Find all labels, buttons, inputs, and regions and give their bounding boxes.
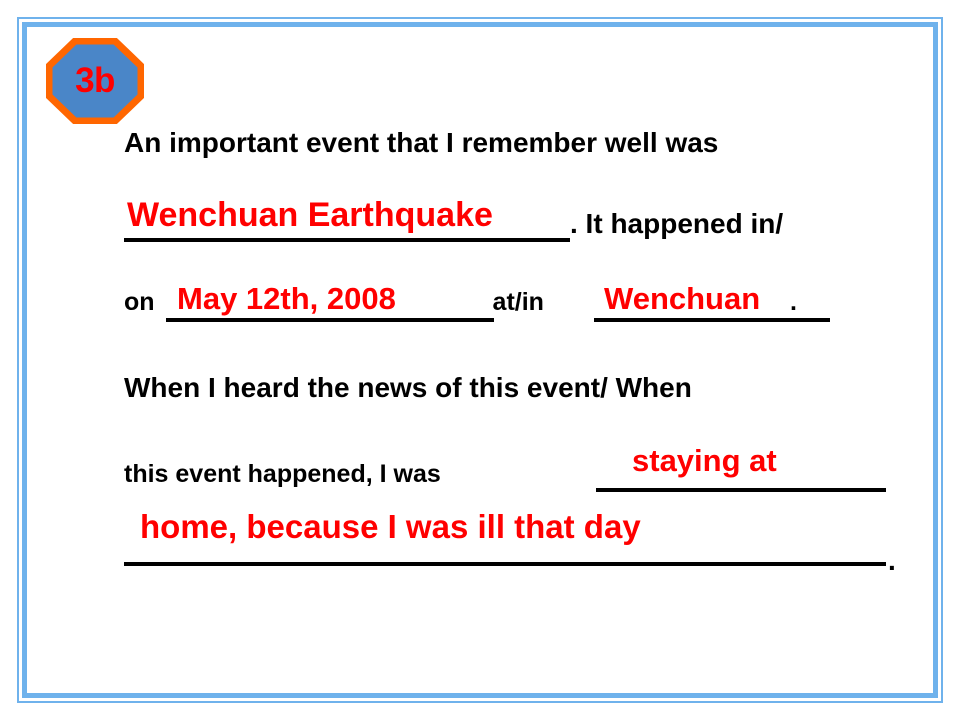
prompt-line-4-text: When I heard the news of this event/ Whe…: [124, 372, 692, 403]
answer-reason[interactable]: home, because I was ill that day: [140, 508, 641, 546]
answer-doing[interactable]: staying at: [632, 443, 777, 479]
answer-date[interactable]: May 12th, 2008: [177, 281, 396, 317]
blank-rule-reason[interactable]: [124, 562, 886, 566]
prompt-line-4: When I heard the news of this event/ Whe…: [124, 372, 692, 404]
prompt-line-1-text: An important event that I remember well …: [124, 127, 718, 158]
prompt-line-5-text: this event happened, I was: [124, 460, 441, 488]
slide-content: 3b An important event that I remember we…: [0, 0, 960, 720]
blank-rule-doing[interactable]: [596, 488, 886, 492]
exercise-number-label: 3b: [46, 38, 144, 124]
prompt-line-3-period: .: [790, 288, 797, 316]
slide: 3b An important event that I remember we…: [0, 0, 960, 720]
prompt-line-3-on: on: [124, 288, 155, 316]
blank-rule-event[interactable]: [124, 238, 570, 242]
prompt-line-6-period: .: [888, 545, 896, 577]
prompt-line-5: this event happened, I was: [124, 460, 441, 489]
exercise-number-badge: 3b: [46, 38, 144, 124]
prompt-line-3-atin: at/in: [493, 288, 544, 316]
blank-rule-date[interactable]: [166, 318, 494, 322]
answer-place[interactable]: Wenchuan: [604, 281, 760, 317]
answer-event[interactable]: Wenchuan Earthquake: [127, 196, 493, 235]
prompt-line-2-text: . It happened in/: [570, 208, 783, 239]
blank-rule-place[interactable]: [594, 318, 830, 322]
prompt-line-1: An important event that I remember well …: [124, 127, 718, 159]
